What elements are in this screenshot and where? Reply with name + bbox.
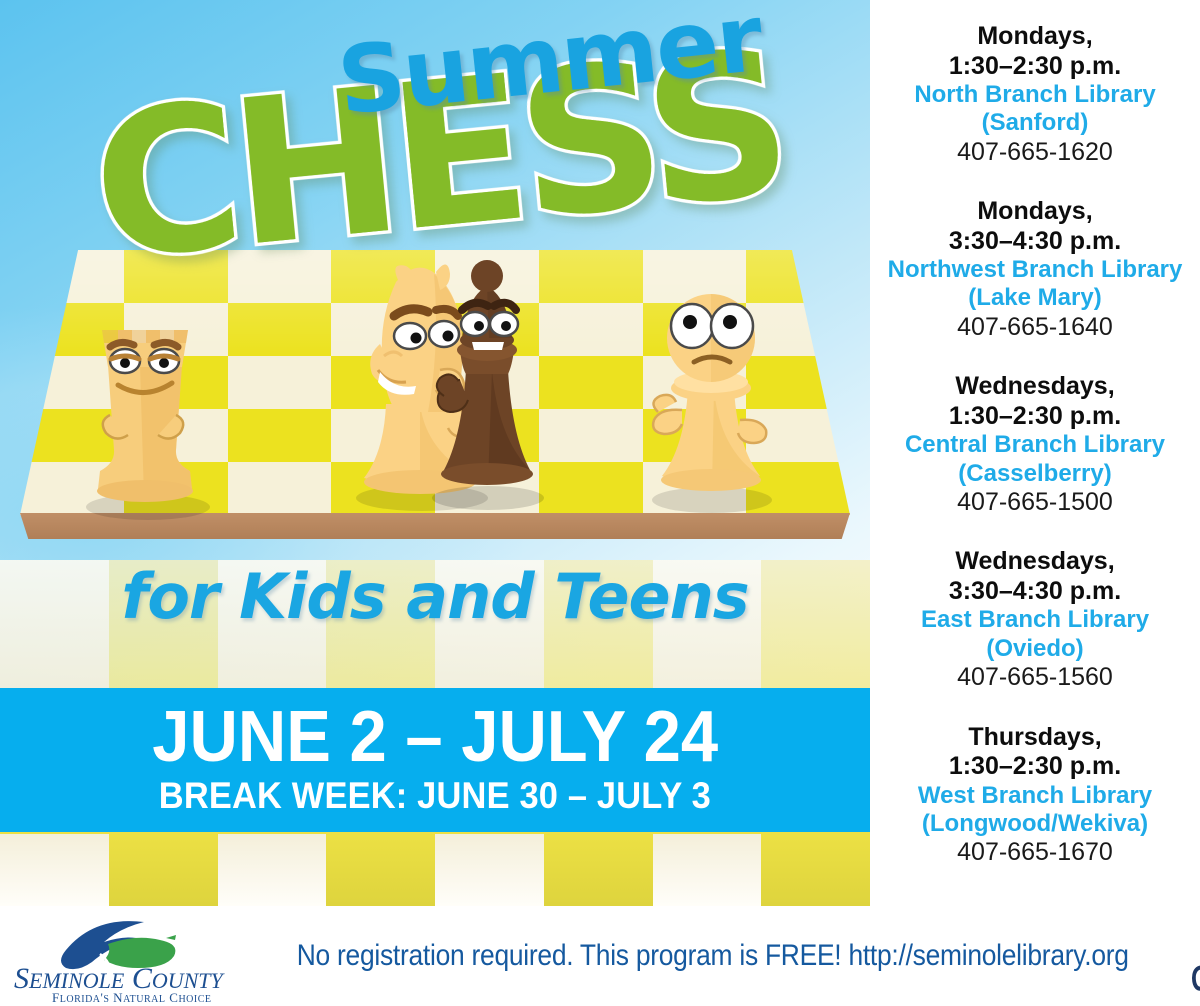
schedule-time: 1:30–2:30 p.m.: [878, 52, 1192, 82]
color-our-world-logo[interactable]: COLOR OUR WORLD.: [1185, 911, 1200, 1001]
schedule-item-north: Mondays, 1:30–2:30 p.m. North Branch Lib…: [878, 22, 1192, 167]
schedule-day: Wednesdays,: [878, 372, 1192, 402]
schedule-library-name[interactable]: Northwest Branch Library: [878, 256, 1192, 284]
schedule-phone[interactable]: 407-665-1620: [878, 138, 1192, 168]
poster-footer: SEMINOLE COUNTY FLORIDA'S NATURAL CHOICE…: [0, 906, 1200, 1006]
date-range: JUNE 2 – JULY 24: [152, 703, 718, 772]
footer-notice: No registration required. This program i…: [297, 939, 1129, 973]
schedule-item-west: Thursdays, 1:30–2:30 p.m. West Branch Li…: [878, 723, 1192, 868]
schedule-library-name[interactable]: Central Branch Library: [878, 431, 1192, 459]
schedule-day: Mondays,: [878, 197, 1192, 227]
schedule-phone[interactable]: 407-665-1640: [878, 313, 1192, 343]
schedule-day: Wednesdays,: [878, 547, 1192, 577]
schedule-item-northwest: Mondays, 3:30–4:30 p.m. Northwest Branch…: [878, 197, 1192, 342]
poster-root: CHESS CHESS Summer for Kids and Teens JU…: [0, 0, 1200, 1006]
schedule-day: Thursdays,: [878, 723, 1192, 753]
schedule-library-city[interactable]: (Sanford): [878, 109, 1192, 137]
schedule-library-city[interactable]: (Longwood/Wekiva): [878, 810, 1192, 838]
schedule-item-central: Wednesdays, 1:30–2:30 p.m. Central Branc…: [878, 372, 1192, 517]
date-banner: JUNE 2 – JULY 24 BREAK WEEK: JUNE 30 – J…: [0, 688, 870, 832]
schedule-day: Mondays,: [878, 22, 1192, 52]
schedule-phone[interactable]: 407-665-1560: [878, 663, 1192, 693]
rook-character: [80, 275, 210, 525]
seminole-county-logo[interactable]: SEMINOLE COUNTY FLORIDA'S NATURAL CHOICE: [0, 908, 240, 1004]
schedule-panel: Mondays, 1:30–2:30 p.m. North Branch Lib…: [870, 0, 1200, 906]
schedule-library-name[interactable]: West Branch Library: [878, 782, 1192, 810]
schedule-phone[interactable]: 407-665-1670: [878, 838, 1192, 868]
schedule-library-city[interactable]: (Oviedo): [878, 635, 1192, 663]
svg-text:COLOR: COLOR: [1188, 946, 1200, 1000]
schedule-phone[interactable]: 407-665-1500: [878, 488, 1192, 518]
schedule-time: 3:30–4:30 p.m.: [878, 577, 1192, 607]
schedule-time: 1:30–2:30 p.m.: [878, 402, 1192, 432]
schedule-library-name[interactable]: North Branch Library: [878, 81, 1192, 109]
poster-subtitle: for Kids and Teens: [0, 560, 870, 633]
poster-artwork-panel: CHESS CHESS Summer for Kids and Teens JU…: [0, 0, 870, 906]
light-pawn-character: [636, 270, 786, 520]
schedule-library-city[interactable]: (Casselberry): [878, 460, 1192, 488]
break-week-note: BREAK WEEK: JUNE 30 – JULY 3: [159, 776, 711, 817]
schedule-time: 3:30–4:30 p.m.: [878, 227, 1192, 257]
schedule-time: 1:30–2:30 p.m.: [878, 752, 1192, 782]
dark-pawn-character: [422, 250, 552, 518]
schedule-library-city[interactable]: (Lake Mary): [878, 284, 1192, 312]
schedule-item-east: Wednesdays, 3:30–4:30 p.m. East Branch L…: [878, 547, 1192, 692]
schedule-library-name[interactable]: East Branch Library: [878, 606, 1192, 634]
bottom-checkerboard-strip: [0, 830, 870, 906]
